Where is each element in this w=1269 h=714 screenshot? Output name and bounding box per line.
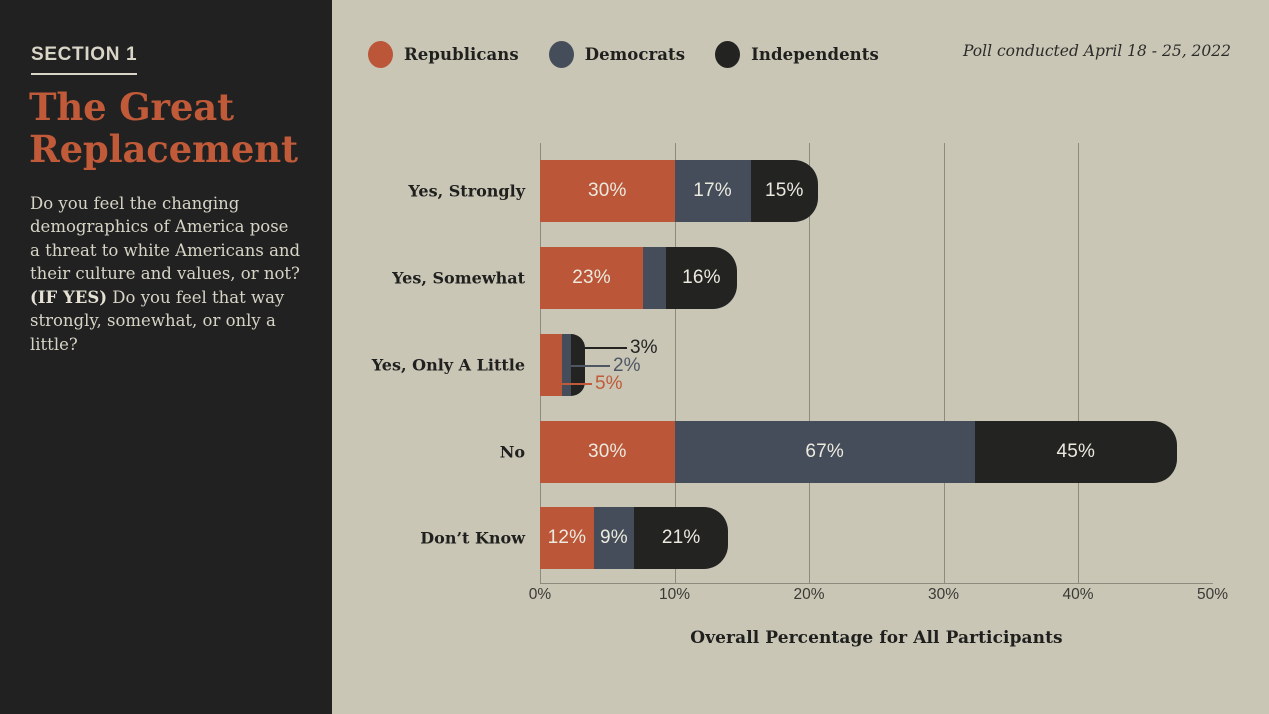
category-label: Don’t Know (420, 529, 525, 548)
bar-segment-independents[interactable] (571, 334, 584, 396)
legend-dot-icon (368, 41, 393, 68)
legend-label: Independents (751, 45, 879, 64)
bar-segment-independents[interactable]: 16% (666, 247, 738, 309)
callout-leader-line (571, 365, 610, 367)
callout-leader-line (562, 383, 592, 385)
grid-line (675, 143, 676, 583)
legend-item-democrats[interactable]: Democrats (549, 41, 685, 68)
question-part-1: Do you feel the changing demographics of… (30, 194, 300, 283)
bar-value-label: 30% (588, 180, 627, 202)
x-axis-tick-label: 40% (1062, 586, 1093, 604)
slide-root: SECTION 1 The Great Replacement Do you f… (0, 0, 1269, 714)
bar-value-label: 17% (693, 180, 732, 202)
grid-line (1078, 143, 1079, 583)
legend-label: Republicans (404, 45, 519, 64)
x-axis-tick-label: 30% (928, 586, 959, 604)
bar-value-label: 21% (662, 527, 701, 549)
bar-segment-republicans[interactable] (540, 334, 562, 396)
grid-line-zero (540, 143, 541, 583)
bar-segment-independents[interactable]: 21% (634, 507, 728, 569)
bar-value-label: 12% (548, 527, 587, 549)
sidebar-panel: SECTION 1 The Great Replacement Do you f… (0, 0, 332, 714)
x-axis-tick-label: 10% (659, 586, 690, 604)
callout-value-label: 3% (630, 337, 657, 359)
bar-value-label: 67% (805, 441, 844, 463)
bar-segment-democrats[interactable] (562, 334, 571, 396)
bar-segment-democrats[interactable] (643, 247, 665, 309)
x-axis-title: Overall Percentage for All Participants (540, 628, 1213, 648)
bar-segment-democrats[interactable]: 17% (675, 160, 751, 222)
page-title: The Great Replacement (29, 87, 319, 171)
grid-line (809, 143, 810, 583)
legend-item-republicans[interactable]: Republicans (368, 41, 519, 68)
bar-segment-republicans[interactable]: 30% (540, 160, 675, 222)
bar-value-label: 23% (572, 267, 611, 289)
section-kicker: SECTION 1 (31, 44, 137, 75)
bar-value-label: 9% (600, 527, 628, 549)
callout-value-label: 5% (595, 373, 622, 395)
legend-item-independents[interactable]: Independents (715, 41, 879, 68)
bar-value-label: 45% (1056, 441, 1095, 463)
x-axis-line (540, 583, 1213, 584)
legend-label: Democrats (585, 45, 685, 64)
bar-segment-republicans[interactable]: 12% (540, 507, 594, 569)
x-axis-tick-label: 50% (1197, 586, 1228, 604)
bar-segment-democrats[interactable]: 9% (594, 507, 634, 569)
question-if-yes: (IF YES) (30, 288, 107, 307)
poll-date-note: Poll conducted April 18 - 25, 2022 (963, 42, 1231, 60)
question-text: Do you feel the changing demographics of… (30, 192, 302, 356)
legend-dot-icon (549, 41, 574, 68)
grid-line (944, 143, 945, 583)
bar-value-label: 15% (765, 180, 804, 202)
chart-legend: Republicans Democrats Independents (368, 41, 879, 68)
bar-value-label: 16% (682, 267, 721, 289)
bar-segment-republicans[interactable]: 23% (540, 247, 643, 309)
category-label: Yes, Strongly (408, 182, 525, 201)
callout-value-label: 2% (613, 355, 640, 377)
category-label: Yes, Somewhat (392, 269, 525, 288)
legend-dot-icon (715, 41, 740, 68)
bar-value-label: 30% (588, 441, 627, 463)
category-label: No (500, 443, 525, 462)
callout-leader-line (585, 347, 627, 349)
bar-segment-democrats[interactable]: 67% (675, 421, 975, 483)
x-axis-tick-label: 0% (529, 586, 551, 604)
bar-segment-independents[interactable]: 45% (975, 421, 1177, 483)
bar-segment-republicans[interactable]: 30% (540, 421, 675, 483)
category-label: Yes, Only A Little (372, 356, 525, 375)
bar-segment-independents[interactable]: 15% (751, 160, 818, 222)
x-axis-tick-label: 20% (793, 586, 824, 604)
